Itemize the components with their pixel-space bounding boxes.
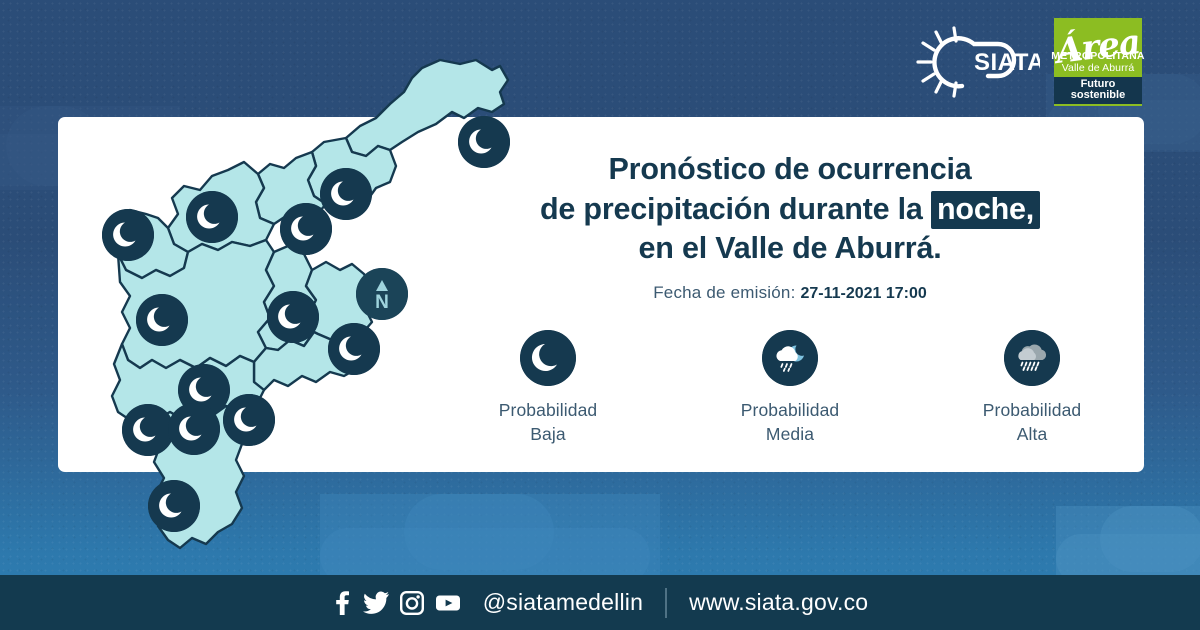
legend-label-line2: Media <box>715 423 865 447</box>
instagram-icon[interactable] <box>400 591 424 615</box>
footer-divider <box>665 588 667 618</box>
social-handle[interactable]: @siatamedellin <box>483 589 643 616</box>
moon-icon <box>520 330 576 386</box>
map-marker-sabaneta <box>168 403 220 455</box>
map-marker-la-estrella <box>122 404 174 456</box>
cloud-heavy-rain-icon <box>1004 330 1060 386</box>
legend-label-line2: Baja <box>473 423 623 447</box>
moon-icon <box>102 209 154 261</box>
page-title: Pronóstico de ocurrencia de precipitació… <box>470 150 1110 269</box>
forecast-text-block: Pronóstico de ocurrencia de precipitació… <box>470 150 1110 303</box>
moon-icon <box>148 480 200 532</box>
moon-icon <box>168 403 220 455</box>
svg-text:SIATA: SIATA <box>974 49 1040 76</box>
cloud-moon-rain-icon <box>762 330 818 386</box>
siata-logo: SIATA <box>912 24 1040 100</box>
legend-label-baja: Probabilidad Baja <box>473 399 623 446</box>
headline-highlight: noche, <box>931 191 1040 229</box>
map-marker-san-jeronimo <box>267 291 319 343</box>
map-marker-copacabana <box>280 203 332 255</box>
moon-icon <box>122 404 174 456</box>
valle-de-aburra-map: N <box>60 46 620 570</box>
footer-bar: @siatamedellin www.siata.gov.co <box>0 575 1200 630</box>
headline-line-3: en el Valle de Aburrá. <box>470 229 1110 269</box>
map-marker-guarne <box>328 323 380 375</box>
cloud-decoration-bottom-right <box>1056 506 1200 580</box>
moon-icon <box>280 203 332 255</box>
facebook-icon[interactable] <box>332 591 352 615</box>
am-script-text: Área <box>1054 25 1141 69</box>
legend-item-media: Probabilidad Media <box>715 330 865 446</box>
issue-date: Fecha de emisión: 27-11-2021 17:00 <box>470 283 1110 303</box>
youtube-icon[interactable] <box>435 591 461 615</box>
area-metropolitana-logo: Área METROPOLITANA Valle de Aburrá Futur… <box>1054 18 1142 106</box>
am-tagline: Futuro sostenible <box>1054 77 1142 104</box>
legend-item-alta: Probabilidad Alta <box>957 330 1107 446</box>
probability-legend: Probabilidad Baja <box>470 330 1110 446</box>
legend-label-line1: Probabilidad <box>473 399 623 423</box>
headline-line-1: Pronóstico de ocurrencia <box>470 150 1110 190</box>
twitter-icon[interactable] <box>363 591 389 615</box>
website-url[interactable]: www.siata.gov.co <box>689 589 868 616</box>
map-marker-bello <box>102 209 154 261</box>
legend-item-baja: Probabilidad Baja <box>473 330 623 446</box>
moon-icon <box>136 294 188 346</box>
moon-icon <box>267 291 319 343</box>
compass-rose: N <box>356 268 408 320</box>
legend-label-line1: Probabilidad <box>715 399 865 423</box>
map-marker-envigado <box>223 394 275 446</box>
north-arrow-icon: N <box>356 268 408 320</box>
issue-date-label: Fecha de emisión: <box>653 283 795 302</box>
map-marker-medellin <box>136 294 188 346</box>
map-marker-caldas <box>148 480 200 532</box>
compass-label: N <box>375 292 389 313</box>
legend-label-alta: Probabilidad Alta <box>957 399 1107 446</box>
moon-icon <box>186 191 238 243</box>
header-logos: SIATA Área METROPOLITANA Valle de Aburrá… <box>912 18 1142 106</box>
headline-line-2: de precipitación durante la noche, <box>470 190 1110 230</box>
legend-label-media: Probabilidad Media <box>715 399 865 446</box>
moon-icon <box>223 394 275 446</box>
headline-line-2-text: de precipitación durante la <box>540 192 923 226</box>
social-icons <box>332 591 461 615</box>
infographic-root: SIATA Área METROPOLITANA Valle de Aburrá… <box>0 0 1200 630</box>
map-marker-san-pedro <box>186 191 238 243</box>
legend-label-line2: Alta <box>957 423 1107 447</box>
moon-icon <box>328 323 380 375</box>
issue-date-value: 27-11-2021 17:00 <box>800 285 926 302</box>
siata-sun-cloud-icon: SIATA <box>912 24 1040 100</box>
legend-label-line1: Probabilidad <box>957 399 1107 423</box>
